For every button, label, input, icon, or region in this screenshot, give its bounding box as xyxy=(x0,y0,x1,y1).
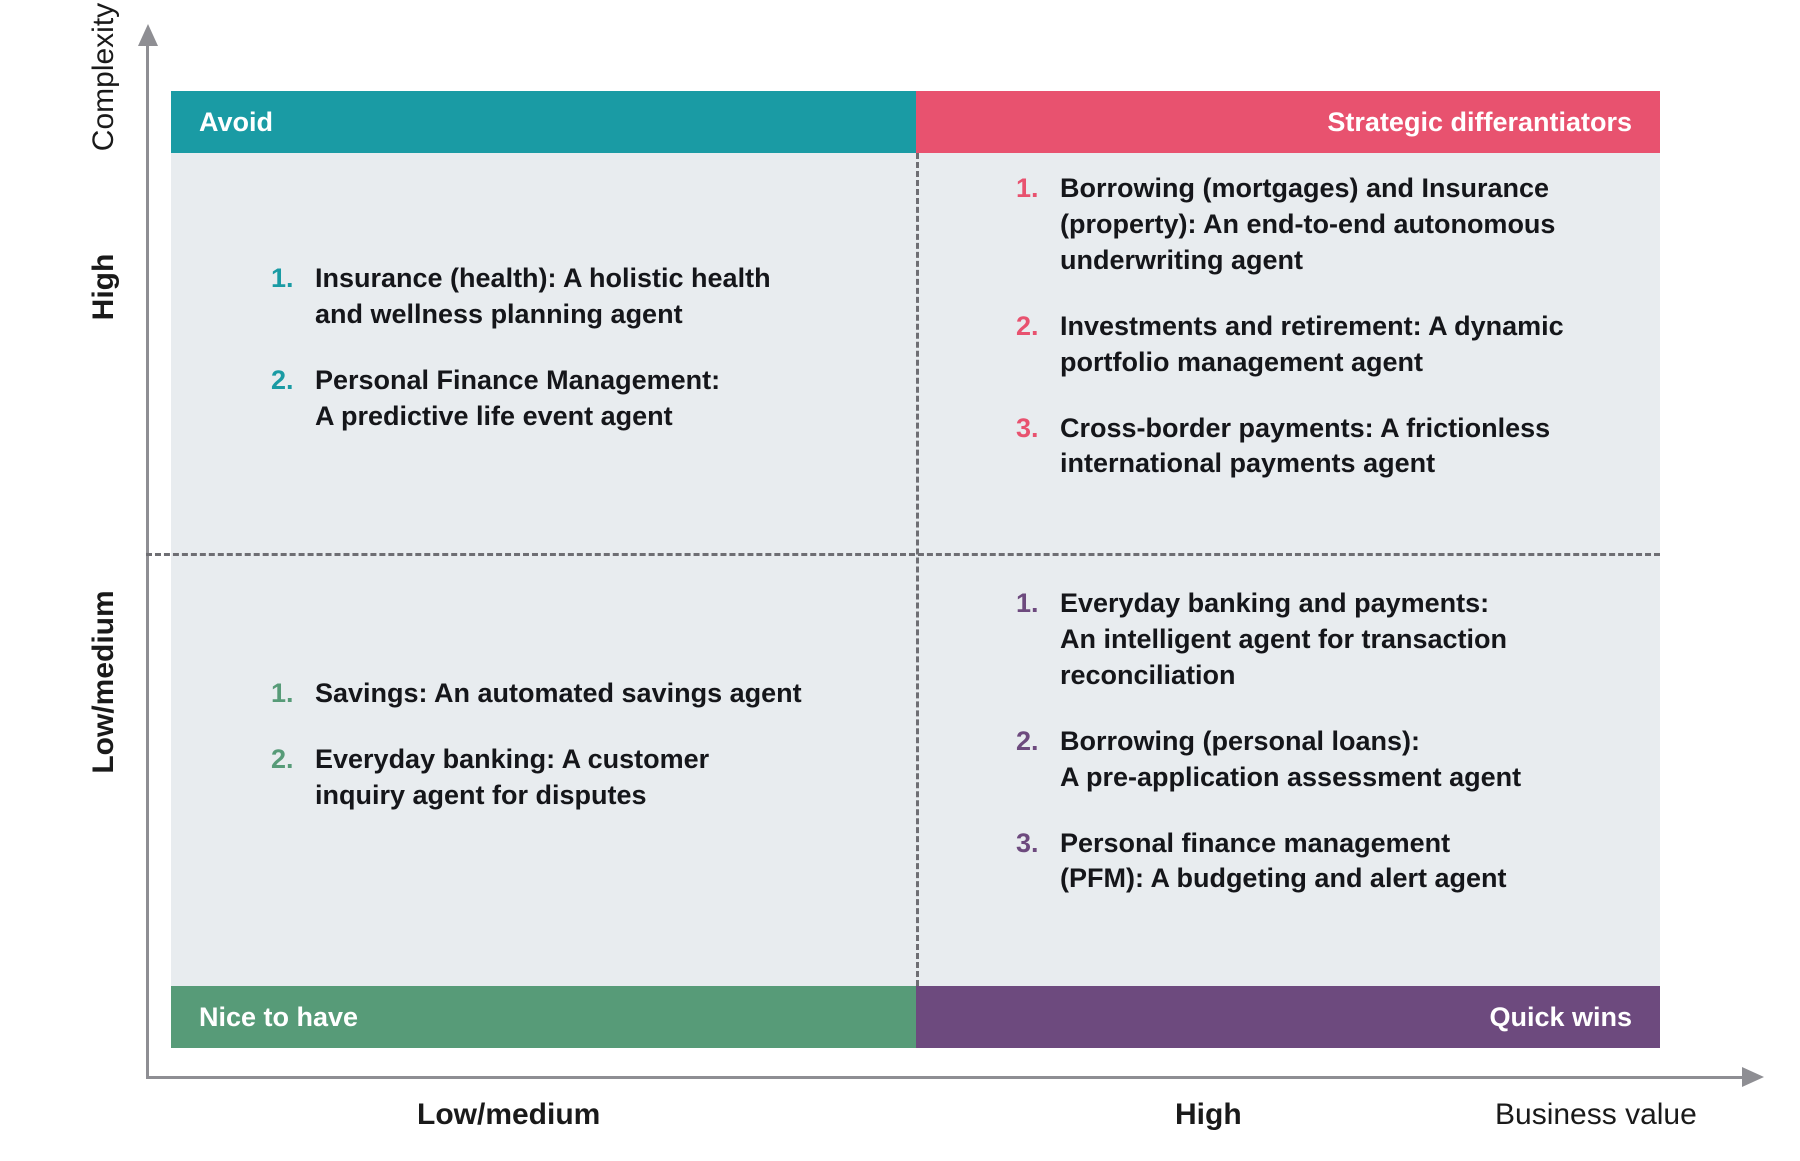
list-item-number: 1. xyxy=(271,261,315,297)
list-item-text: Personal finance management (PFM): A bud… xyxy=(1060,826,1641,898)
list-item-number: 3. xyxy=(1016,826,1060,862)
y-axis-arrow-icon xyxy=(138,24,158,46)
quadrant-header-avoid: Avoid xyxy=(171,91,916,153)
list-item-number: 1. xyxy=(271,676,315,712)
vertical-divider xyxy=(916,153,919,986)
list-item: 3.Personal finance management (PFM): A b… xyxy=(1016,826,1641,898)
list-item-number: 2. xyxy=(271,363,315,399)
list-item: 1.Savings: An automated savings agent xyxy=(271,676,886,712)
quadrant-header-strategic-differantiators: Strategic differantiators xyxy=(916,91,1660,153)
quadrant-label-nice-to-have: Nice to have xyxy=(199,1002,358,1033)
list-item-number: 3. xyxy=(1016,411,1060,447)
list-item-text: Borrowing (mortgages) and Insurance (pro… xyxy=(1060,171,1641,279)
y-axis-tick-high: High xyxy=(87,157,121,417)
quadrant-matrix: Avoid Strategic differantiators Nice to … xyxy=(171,91,1660,1048)
list-item-number: 1. xyxy=(1016,586,1060,622)
list-item-number: 1. xyxy=(1016,171,1060,207)
x-axis-arrow-icon xyxy=(1742,1067,1764,1087)
list-item-text: Personal Finance Management: A predictiv… xyxy=(315,363,871,435)
quadrant-header-nice-to-have: Nice to have xyxy=(171,986,916,1048)
list-item-text: Savings: An automated savings agent xyxy=(315,676,886,712)
list-item: 2.Borrowing (personal loans): A pre-appl… xyxy=(1016,724,1641,796)
list-item-text: Borrowing (personal loans): A pre-applic… xyxy=(1060,724,1641,796)
list-item-text: Everyday banking and payments: An intell… xyxy=(1060,586,1641,694)
matrix-diagram: Complexity High Low/medium Low/medium Hi… xyxy=(0,0,1800,1161)
list-item: 2.Everyday banking: A customer inquiry a… xyxy=(271,742,886,814)
list-item: 2.Personal Finance Management: A predict… xyxy=(271,363,871,435)
horizontal-divider xyxy=(146,553,1660,556)
quadrant-label-strategic-differantiators: Strategic differantiators xyxy=(1327,107,1632,138)
x-axis-tick-high: High xyxy=(1175,1098,1242,1132)
x-axis-title: Business value xyxy=(1495,1098,1697,1132)
item-list-quick-wins: 1.Everyday banking and payments: An inte… xyxy=(1016,586,1641,897)
quadrant-label-quick-wins: Quick wins xyxy=(1489,1002,1632,1033)
x-axis-line xyxy=(146,1076,1746,1079)
quadrant-label-avoid: Avoid xyxy=(199,107,273,138)
list-item-text: Investments and retirement: A dynamic po… xyxy=(1060,309,1641,381)
list-item: 1.Insurance (health): A holistic health … xyxy=(271,261,871,333)
list-item-text: Everyday banking: A customer inquiry age… xyxy=(315,742,886,814)
list-item-text: Insurance (health): A holistic health an… xyxy=(315,261,871,333)
list-item-number: 2. xyxy=(271,742,315,778)
list-item-number: 2. xyxy=(1016,309,1060,345)
y-axis-line xyxy=(146,44,149,1079)
list-item: 3.Cross-border payments: A frictionless … xyxy=(1016,411,1641,483)
y-axis-tick-low-medium: Low/medium xyxy=(87,552,121,812)
item-list-strategic-differantiators: 1.Borrowing (mortgages) and Insurance (p… xyxy=(1016,171,1641,482)
list-item: 1.Borrowing (mortgages) and Insurance (p… xyxy=(1016,171,1641,279)
list-item: 2.Investments and retirement: A dynamic … xyxy=(1016,309,1641,381)
list-item-text: Cross-border payments: A frictionless in… xyxy=(1060,411,1641,483)
quadrant-header-quick-wins: Quick wins xyxy=(916,986,1660,1048)
item-list-nice-to-have: 1.Savings: An automated savings agent2.E… xyxy=(271,676,886,814)
item-list-avoid: 1.Insurance (health): A holistic health … xyxy=(271,261,871,435)
x-axis-tick-low-medium: Low/medium xyxy=(417,1098,600,1132)
list-item-number: 2. xyxy=(1016,724,1060,760)
list-item: 1.Everyday banking and payments: An inte… xyxy=(1016,586,1641,694)
